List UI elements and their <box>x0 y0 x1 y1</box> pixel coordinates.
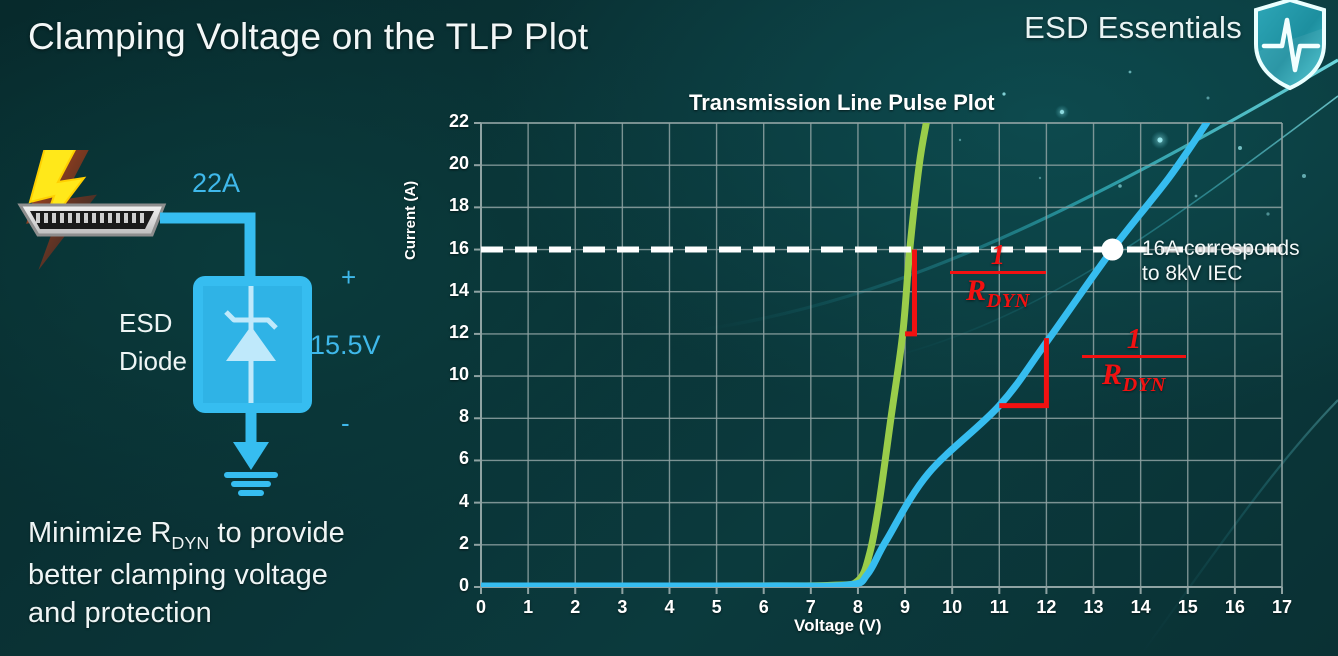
slope-annotation-1-den-base: R <box>966 274 987 307</box>
summary-note-line1-post: to provide <box>209 517 344 549</box>
shield-heartbeat-icon <box>1248 0 1332 92</box>
polarity-plus-label: + <box>341 262 356 293</box>
brand-title: ESD Essentials <box>1024 10 1242 46</box>
esd-protection-schematic <box>0 150 430 500</box>
summary-note: Minimize RDYN to provide better clamping… <box>28 514 345 632</box>
plot-area <box>404 88 1338 656</box>
summary-note-line1-sub: DYN <box>171 533 209 553</box>
slope-annotation-2-denominator: RDYN <box>1082 358 1186 397</box>
summary-note-line2: better clamping voltage <box>28 556 345 594</box>
signal-wire <box>160 218 250 276</box>
device-label-line2: Diode <box>119 343 187 381</box>
slope-annotation-1-denominator: RDYN <box>950 274 1046 313</box>
slope-annotation-2-den-base: R <box>1102 358 1123 391</box>
slope-annotation-1-numerator: 1 <box>950 240 1046 270</box>
current-label: 22A <box>192 168 240 199</box>
summary-note-line1: Minimize RDYN to provide <box>28 514 345 556</box>
ground-symbol-icon <box>227 475 275 493</box>
tlp-chart: Transmission Line Pulse Plot Current (A)… <box>404 88 1338 656</box>
device-label: ESD Diode <box>119 305 187 380</box>
marker-callout-line1: 16A corresponds <box>1142 236 1300 261</box>
slope-annotation-2: 1 RDYN <box>1082 324 1186 398</box>
summary-note-line3: and protection <box>28 594 345 632</box>
slope-annotation-2-numerator: 1 <box>1082 324 1186 354</box>
marker-callout: 16A corresponds to 8kV IEC <box>1142 236 1300 286</box>
hdmi-connector-icon <box>20 205 164 235</box>
polarity-minus-label: - <box>341 408 350 439</box>
device-label-line1: ESD <box>119 305 187 343</box>
current-arrow-icon <box>233 442 269 470</box>
summary-note-line1-pre: Minimize R <box>28 517 171 549</box>
marker-callout-line2: to 8kV IEC <box>1142 261 1300 286</box>
slope-annotation-2-den-sub: DYN <box>1123 374 1166 396</box>
slope-annotation-1: 1 RDYN <box>950 240 1046 314</box>
marker-points <box>1101 239 1123 261</box>
slope-annotation-1-den-sub: DYN <box>987 290 1030 312</box>
clamping-voltage-label: 15.5V <box>310 330 381 361</box>
page-title: Clamping Voltage on the TLP Plot <box>28 16 588 58</box>
slide-root: Clamping Voltage on the TLP Plot ESD Ess… <box>0 0 1338 656</box>
